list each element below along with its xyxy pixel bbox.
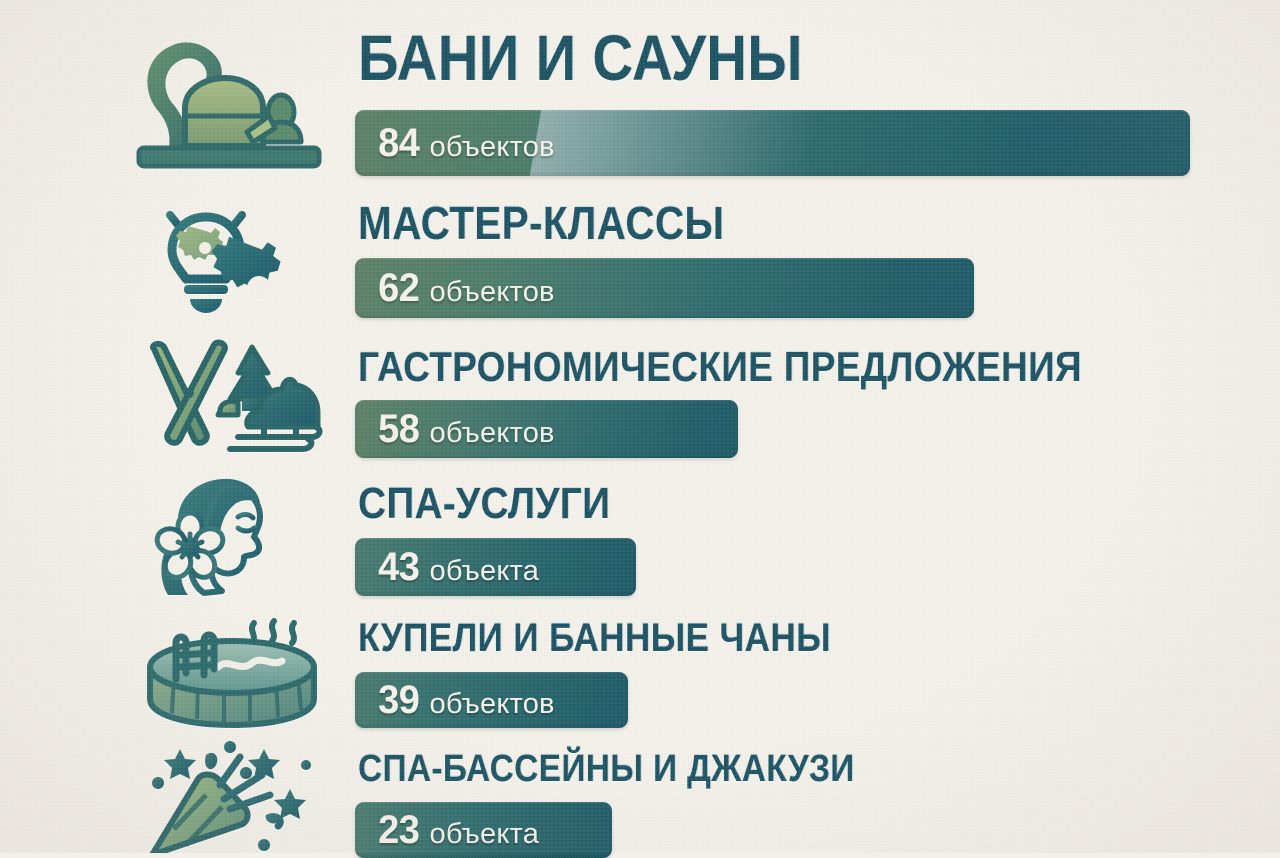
category-bar: 62объектов: [355, 258, 974, 318]
category-bar: 43объекта: [355, 538, 636, 596]
category-bar: 58объектов: [355, 400, 738, 458]
bar-unit: объектов: [430, 276, 555, 309]
bar-value-label: 58объектов: [355, 407, 555, 452]
bar-count: 43: [378, 545, 419, 590]
category-bar: 84объектов: [355, 110, 1190, 176]
infographic-sheet: БАНИ И САУНЫ 84объектов: [0, 0, 1280, 853]
bar-unit: объектов: [430, 417, 555, 450]
woman-flower-profile-icon: [136, 468, 332, 604]
bar-count: 39: [378, 678, 419, 723]
sauna-stove-icon: [118, 22, 340, 182]
category-title: КУПЕЛИ И БАННЫЕ ЧАНЫ: [358, 614, 831, 662]
bar-unit: объектов: [430, 131, 555, 164]
category-title: МАСТЕР-КЛАССЫ: [358, 196, 724, 250]
bar-value-label: 43объекта: [355, 545, 539, 590]
bar-count: 62: [378, 266, 419, 311]
hot-tub-icon: [132, 604, 332, 738]
bar-count: 58: [378, 407, 419, 452]
bar-unit: объекта: [430, 555, 540, 588]
bar-value-label: 23объекта: [355, 808, 539, 853]
bar-value-label: 84объектов: [355, 121, 555, 166]
bar-count: 84: [378, 121, 419, 166]
bar-value-label: 39объектов: [355, 678, 555, 723]
party-popper-icon: [132, 736, 332, 853]
bar-unit: объекта: [430, 818, 540, 851]
category-title: ГАСТРОНОМИЧЕСКИЕ ПРЕДЛОЖЕНИЯ: [358, 342, 1082, 392]
category-title: СПА-УСЛУГИ: [358, 478, 610, 530]
category-title: БАНИ И САУНЫ: [358, 22, 803, 94]
bar-value-label: 62объектов: [355, 266, 555, 311]
category-title: СПА-БАССЕЙНЫ И ДЖАКУЗИ: [358, 746, 855, 792]
category-bar: 23объекта: [355, 802, 612, 858]
category-bar: 39объектов: [355, 672, 628, 728]
bar-unit: объектов: [430, 688, 555, 721]
bar-count: 23: [378, 808, 419, 853]
skis-sled-tree-icon: [136, 332, 332, 468]
lightbulb-gear-icon: [136, 188, 332, 326]
